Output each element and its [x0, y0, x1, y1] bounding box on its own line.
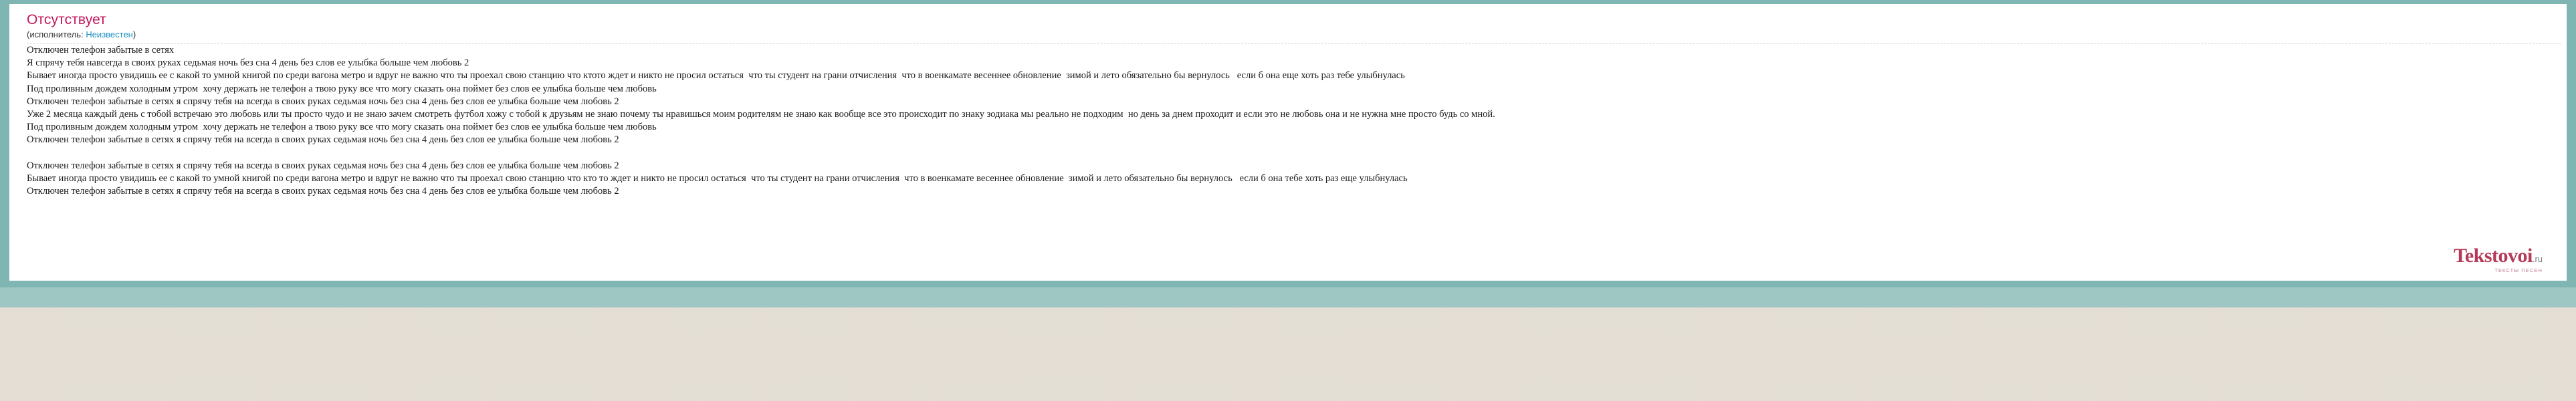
page-root: Отсутствует (исполнитель: Неизвестен) От… — [0, 0, 2576, 401]
teal-background-band-lower — [0, 287, 2576, 307]
performer-link[interactable]: Неизвестен — [86, 29, 133, 39]
lyrics-text-block-2: Отключен телефон забытые в сетях я спряч… — [27, 160, 2561, 198]
site-logo[interactable]: Tekstovoi.ru ТЕКСТЫ ПЕСЕН — [2454, 246, 2543, 273]
site-logo-name: Tekstovoi — [2454, 245, 2533, 267]
page-bottom-texture — [0, 307, 2576, 401]
site-logo-tagline: ТЕКСТЫ ПЕСЕН — [2454, 268, 2543, 273]
performer-line: (исполнитель: Неизвестен) — [27, 29, 2561, 39]
page-title: Отсутствует — [27, 12, 2561, 28]
lyrics-sheet: Отсутствует (исполнитель: Неизвестен) От… — [9, 4, 2567, 281]
lyrics-spacer — [27, 147, 2561, 160]
lyrics-sheet-inner: Отсутствует (исполнитель: Неизвестен) От… — [27, 12, 2561, 198]
lyrics-text-block-1: Отключен телефон забытые в сетях Я спряч… — [27, 44, 2561, 147]
site-logo-tld: .ru — [2533, 254, 2543, 264]
performer-label: (исполнитель: — [27, 29, 84, 39]
performer-close-paren: ) — [133, 29, 136, 39]
